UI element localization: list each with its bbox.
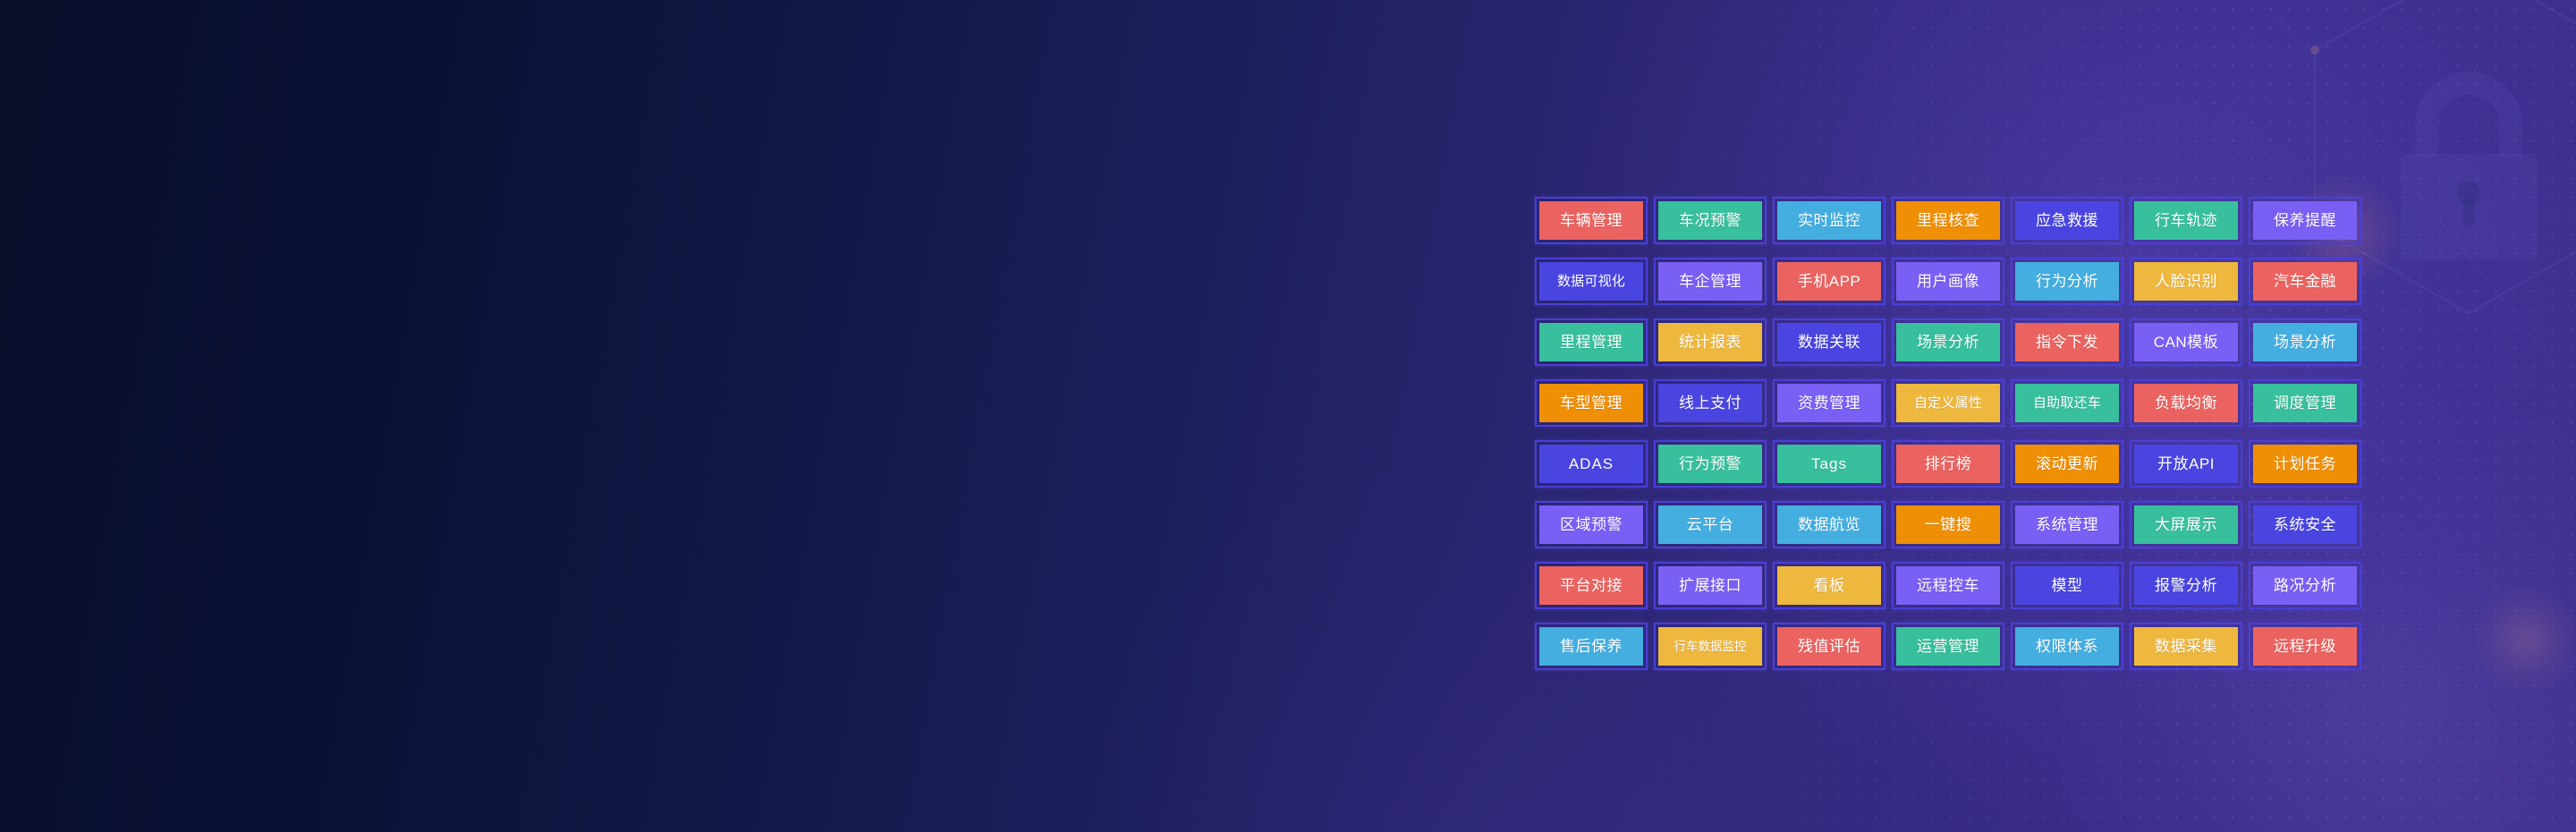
feature-tile-fill: 行为分析 bbox=[2015, 262, 2119, 301]
feature-tile-fill: 数据关联 bbox=[1777, 323, 1881, 361]
feature-tile-label: 数据采集 bbox=[2155, 639, 2217, 654]
feature-tile[interactable]: 云平台 bbox=[1654, 501, 1767, 548]
feature-tile[interactable]: 行车轨迹 bbox=[2130, 197, 2242, 244]
feature-tile[interactable]: 数据采集 bbox=[2130, 623, 2242, 670]
feature-tile-label: 场景分析 bbox=[2274, 335, 2336, 350]
feature-tile-fill: 保养提醒 bbox=[2253, 201, 2357, 240]
feature-tile[interactable]: 看板 bbox=[1773, 562, 1885, 609]
feature-tile-label: 调度管理 bbox=[2274, 395, 2336, 411]
feature-tile-label: 自定义属性 bbox=[1914, 396, 1982, 410]
feature-tile-label: 售后保养 bbox=[1560, 639, 1623, 654]
feature-tile[interactable]: 排行榜 bbox=[1892, 440, 2004, 488]
feature-tile[interactable]: 资费管理 bbox=[1773, 379, 1885, 427]
feature-tile-label: 行车数据监控 bbox=[1674, 641, 1747, 653]
feature-tile[interactable]: 模型 bbox=[2011, 562, 2123, 609]
background-glow-accent-bottom bbox=[2473, 586, 2576, 693]
feature-tile-label: 里程管理 bbox=[1560, 335, 1623, 350]
feature-tile-label: 云平台 bbox=[1687, 517, 1734, 532]
feature-tile-label: 保养提醒 bbox=[2274, 213, 2336, 228]
feature-tile-label: 计划任务 bbox=[2274, 456, 2336, 471]
feature-tile[interactable]: 远程升级 bbox=[2249, 623, 2361, 670]
feature-tile-fill: 数据可视化 bbox=[1539, 262, 1643, 301]
feature-tile[interactable]: 里程管理 bbox=[1535, 318, 1648, 366]
feature-tile[interactable]: 行为分析 bbox=[2011, 258, 2123, 305]
feature-tile[interactable]: 残值评估 bbox=[1773, 623, 1885, 670]
feature-tile-label: 车企管理 bbox=[1679, 274, 1741, 289]
feature-tile[interactable]: 大屏展示 bbox=[2130, 501, 2242, 548]
feature-tile-label: 车况预警 bbox=[1679, 213, 1741, 228]
feature-tile-fill: 场景分析 bbox=[1896, 323, 2000, 361]
feature-tile[interactable]: 运营管理 bbox=[1892, 623, 2004, 670]
feature-tile[interactable]: 售后保养 bbox=[1535, 623, 1648, 670]
feature-tile-label: 指令下发 bbox=[2036, 335, 2098, 350]
feature-tile-fill: 排行榜 bbox=[1896, 445, 2000, 483]
feature-tile-fill: 远程控车 bbox=[1896, 566, 2000, 605]
feature-tile-label: 远程控车 bbox=[1917, 578, 1979, 593]
feature-tile-fill: 车企管理 bbox=[1658, 262, 1762, 301]
feature-tile[interactable]: 场景分析 bbox=[1892, 318, 2004, 366]
feature-tile-label: 里程核查 bbox=[1917, 213, 1979, 228]
feature-tile-fill: 线上支付 bbox=[1658, 384, 1762, 422]
feature-tile-label: 负载均衡 bbox=[2155, 395, 2217, 411]
feature-tile-label: 远程升级 bbox=[2274, 639, 2336, 654]
feature-tile-label: 一键搜 bbox=[1925, 517, 1972, 532]
feature-tile-label: 汽车金融 bbox=[2274, 274, 2336, 289]
feature-tile[interactable]: 数据可视化 bbox=[1535, 258, 1648, 305]
page-background: 车辆管理车况预警实时监控里程核查应急救援行车轨迹保养提醒数据可视化车企管理手机A… bbox=[0, 0, 2576, 832]
feature-tile[interactable]: 系统安全 bbox=[2249, 501, 2361, 548]
feature-tile-fill: 残值评估 bbox=[1777, 627, 1881, 666]
feature-tile-fill: 行为预警 bbox=[1658, 445, 1762, 483]
feature-tile-label: 权限体系 bbox=[2036, 639, 2098, 654]
feature-tile-label: 路况分析 bbox=[2274, 578, 2336, 593]
feature-tile-fill: 行车轨迹 bbox=[2134, 201, 2238, 240]
feature-tile-label: 模型 bbox=[2052, 578, 2083, 593]
feature-tile-fill: 人脸识别 bbox=[2134, 262, 2238, 301]
feature-tile[interactable]: 指令下发 bbox=[2011, 318, 2123, 366]
feature-tile[interactable]: 系统管理 bbox=[2011, 501, 2123, 548]
feature-tile-label: 大屏展示 bbox=[2155, 517, 2217, 532]
feature-tile-grid: 车辆管理车况预警实时监控里程核查应急救援行车轨迹保养提醒数据可视化车企管理手机A… bbox=[1535, 197, 2361, 670]
feature-tile[interactable]: 统计报表 bbox=[1654, 318, 1767, 366]
feature-tile-label: 系统管理 bbox=[2036, 517, 2098, 532]
feature-tile-fill: 资费管理 bbox=[1777, 384, 1881, 422]
feature-tile-label: 数据关联 bbox=[1798, 335, 1860, 350]
feature-tile[interactable]: 里程核查 bbox=[1892, 197, 2004, 244]
feature-tile[interactable]: 线上支付 bbox=[1654, 379, 1767, 427]
feature-tile[interactable]: 车况预警 bbox=[1654, 197, 1767, 244]
feature-tile[interactable]: 一键搜 bbox=[1892, 501, 2004, 548]
feature-tile-fill: 大屏展示 bbox=[2134, 505, 2238, 544]
feature-tile-label: 行车轨迹 bbox=[2155, 213, 2217, 228]
feature-tile-label: 资费管理 bbox=[1798, 395, 1860, 411]
feature-tile-fill: 系统安全 bbox=[2253, 505, 2357, 544]
feature-tile-fill: 里程核查 bbox=[1896, 201, 2000, 240]
feature-tile-fill: 开放API bbox=[2134, 445, 2238, 483]
feature-tile-fill: 运营管理 bbox=[1896, 627, 2000, 666]
feature-tile-fill: 报警分析 bbox=[2134, 566, 2238, 605]
feature-tile-label: 排行榜 bbox=[1925, 456, 1972, 471]
feature-tile-fill: 里程管理 bbox=[1539, 323, 1643, 361]
feature-tile-fill: 车型管理 bbox=[1539, 384, 1643, 422]
feature-tile-label: 实时监控 bbox=[1798, 213, 1860, 228]
feature-tile-label: 开放API bbox=[2157, 456, 2215, 471]
feature-tile-fill: 系统管理 bbox=[2015, 505, 2119, 544]
feature-tile-fill: 自助取还车 bbox=[2015, 384, 2119, 422]
feature-tile-fill: 区域预警 bbox=[1539, 505, 1643, 544]
feature-tile[interactable]: 自助取还车 bbox=[2011, 379, 2123, 427]
feature-tile[interactable]: 用户画像 bbox=[1892, 258, 2004, 305]
feature-tile-label: Tags bbox=[1811, 456, 1847, 471]
feature-tile-label: 区域预警 bbox=[1560, 517, 1623, 532]
feature-tile-fill: 滚动更新 bbox=[2015, 445, 2119, 483]
feature-tile[interactable]: 保养提醒 bbox=[2249, 197, 2361, 244]
feature-tile-fill: 售后保养 bbox=[1539, 627, 1643, 666]
feature-tile[interactable]: 人脸识别 bbox=[2130, 258, 2242, 305]
feature-tile-label: 行为分析 bbox=[2036, 274, 2098, 289]
feature-tile[interactable]: ADAS bbox=[1535, 440, 1648, 488]
feature-tile-label: 数据可视化 bbox=[1557, 275, 1625, 288]
feature-tile[interactable]: 车企管理 bbox=[1654, 258, 1767, 305]
feature-tile-label: 平台对接 bbox=[1560, 578, 1623, 593]
feature-tile-fill: 指令下发 bbox=[2015, 323, 2119, 361]
feature-tile-fill: 手机APP bbox=[1777, 262, 1881, 301]
feature-tile-label: 看板 bbox=[1814, 578, 1845, 593]
feature-tile-label: 统计报表 bbox=[1679, 335, 1741, 350]
feature-tile-fill: 云平台 bbox=[1658, 505, 1762, 544]
feature-tile-fill: 路况分析 bbox=[2253, 566, 2357, 605]
feature-tile-fill: 场景分析 bbox=[2253, 323, 2357, 361]
feature-tile-fill: 看板 bbox=[1777, 566, 1881, 605]
feature-tile-fill: 应急救援 bbox=[2015, 201, 2119, 240]
feature-tile-fill: 数据采集 bbox=[2134, 627, 2238, 666]
feature-tile[interactable]: 行车数据监控 bbox=[1654, 623, 1767, 670]
feature-tile-fill: 模型 bbox=[2015, 566, 2119, 605]
feature-tile-label: 手机APP bbox=[1798, 274, 1861, 289]
feature-tile-label: 行为预警 bbox=[1679, 456, 1741, 471]
feature-tile-label: 滚动更新 bbox=[2036, 456, 2098, 471]
feature-tile-label: 用户画像 bbox=[1917, 274, 1979, 289]
feature-tile[interactable]: 滚动更新 bbox=[2011, 440, 2123, 488]
feature-tile-fill: 汽车金融 bbox=[2253, 262, 2357, 301]
feature-tile-label: 场景分析 bbox=[1917, 335, 1979, 350]
feature-tile-label: 残值评估 bbox=[1798, 639, 1860, 654]
feature-tile[interactable]: 平台对接 bbox=[1535, 562, 1648, 609]
feature-tile-label: CAN模板 bbox=[2154, 335, 2218, 350]
feature-tile-fill: 行车数据监控 bbox=[1658, 627, 1762, 666]
feature-tile-label: 线上支付 bbox=[1679, 395, 1741, 411]
feature-tile[interactable]: 权限体系 bbox=[2011, 623, 2123, 670]
feature-tile-fill: 权限体系 bbox=[2015, 627, 2119, 666]
feature-tile[interactable]: 车辆管理 bbox=[1535, 197, 1648, 244]
feature-tile[interactable]: 数据关联 bbox=[1773, 318, 1885, 366]
feature-tile-label: 数据航览 bbox=[1798, 517, 1860, 532]
feature-tile[interactable]: 调度管理 bbox=[2249, 379, 2361, 427]
feature-tile[interactable]: CAN模板 bbox=[2130, 318, 2242, 366]
feature-tile-label: ADAS bbox=[1569, 456, 1614, 471]
feature-tile[interactable]: 负载均衡 bbox=[2130, 379, 2242, 427]
feature-tile[interactable]: 数据航览 bbox=[1773, 501, 1885, 548]
feature-tile-fill: 数据航览 bbox=[1777, 505, 1881, 544]
feature-tile-label: 车辆管理 bbox=[1560, 213, 1623, 228]
feature-tile[interactable]: 扩展接口 bbox=[1654, 562, 1767, 609]
feature-tile-label: 运营管理 bbox=[1917, 639, 1979, 654]
feature-tile-label: 自助取还车 bbox=[2033, 396, 2101, 410]
feature-tile-fill: 车况预警 bbox=[1658, 201, 1762, 240]
feature-tile-fill: 计划任务 bbox=[2253, 445, 2357, 483]
feature-tile-label: 应急救援 bbox=[2036, 213, 2098, 228]
feature-tile-label: 人脸识别 bbox=[2155, 274, 2217, 289]
feature-tile[interactable]: 场景分析 bbox=[2249, 318, 2361, 366]
feature-tile[interactable]: 区域预警 bbox=[1535, 501, 1648, 548]
feature-tile[interactable]: Tags bbox=[1773, 440, 1885, 488]
feature-tile-fill: 负载均衡 bbox=[2134, 384, 2238, 422]
feature-tile[interactable]: 自定义属性 bbox=[1892, 379, 2004, 427]
feature-tile[interactable]: 汽车金融 bbox=[2249, 258, 2361, 305]
feature-tile-fill: 扩展接口 bbox=[1658, 566, 1762, 605]
feature-tile[interactable]: 计划任务 bbox=[2249, 440, 2361, 488]
feature-tile-fill: Tags bbox=[1777, 445, 1881, 483]
feature-tile[interactable]: 车型管理 bbox=[1535, 379, 1648, 427]
feature-tile[interactable]: 报警分析 bbox=[2130, 562, 2242, 609]
feature-tile-fill: 用户画像 bbox=[1896, 262, 2000, 301]
feature-tile[interactable]: 开放API bbox=[2130, 440, 2242, 488]
feature-tile[interactable]: 远程控车 bbox=[1892, 562, 2004, 609]
feature-tile-fill: 实时监控 bbox=[1777, 201, 1881, 240]
feature-tile[interactable]: 手机APP bbox=[1773, 258, 1885, 305]
feature-tile-fill: 调度管理 bbox=[2253, 384, 2357, 422]
feature-tile-fill: 平台对接 bbox=[1539, 566, 1643, 605]
feature-tile[interactable]: 应急救援 bbox=[2011, 197, 2123, 244]
feature-tile[interactable]: 行为预警 bbox=[1654, 440, 1767, 488]
feature-tile-label: 扩展接口 bbox=[1679, 578, 1741, 593]
feature-tile[interactable]: 路况分析 bbox=[2249, 562, 2361, 609]
feature-tile-fill: 自定义属性 bbox=[1896, 384, 2000, 422]
feature-tile-fill: 远程升级 bbox=[2253, 627, 2357, 666]
feature-tile-fill: 统计报表 bbox=[1658, 323, 1762, 361]
feature-tile-label: 系统安全 bbox=[2274, 517, 2336, 532]
feature-tile-fill: 一键搜 bbox=[1896, 505, 2000, 544]
feature-tile-fill: ADAS bbox=[1539, 445, 1643, 483]
feature-tile-fill: 车辆管理 bbox=[1539, 201, 1643, 240]
feature-tile[interactable]: 实时监控 bbox=[1773, 197, 1885, 244]
feature-tile-fill: CAN模板 bbox=[2134, 323, 2238, 361]
feature-tile-label: 车型管理 bbox=[1560, 395, 1623, 411]
feature-tile-label: 报警分析 bbox=[2155, 578, 2217, 593]
